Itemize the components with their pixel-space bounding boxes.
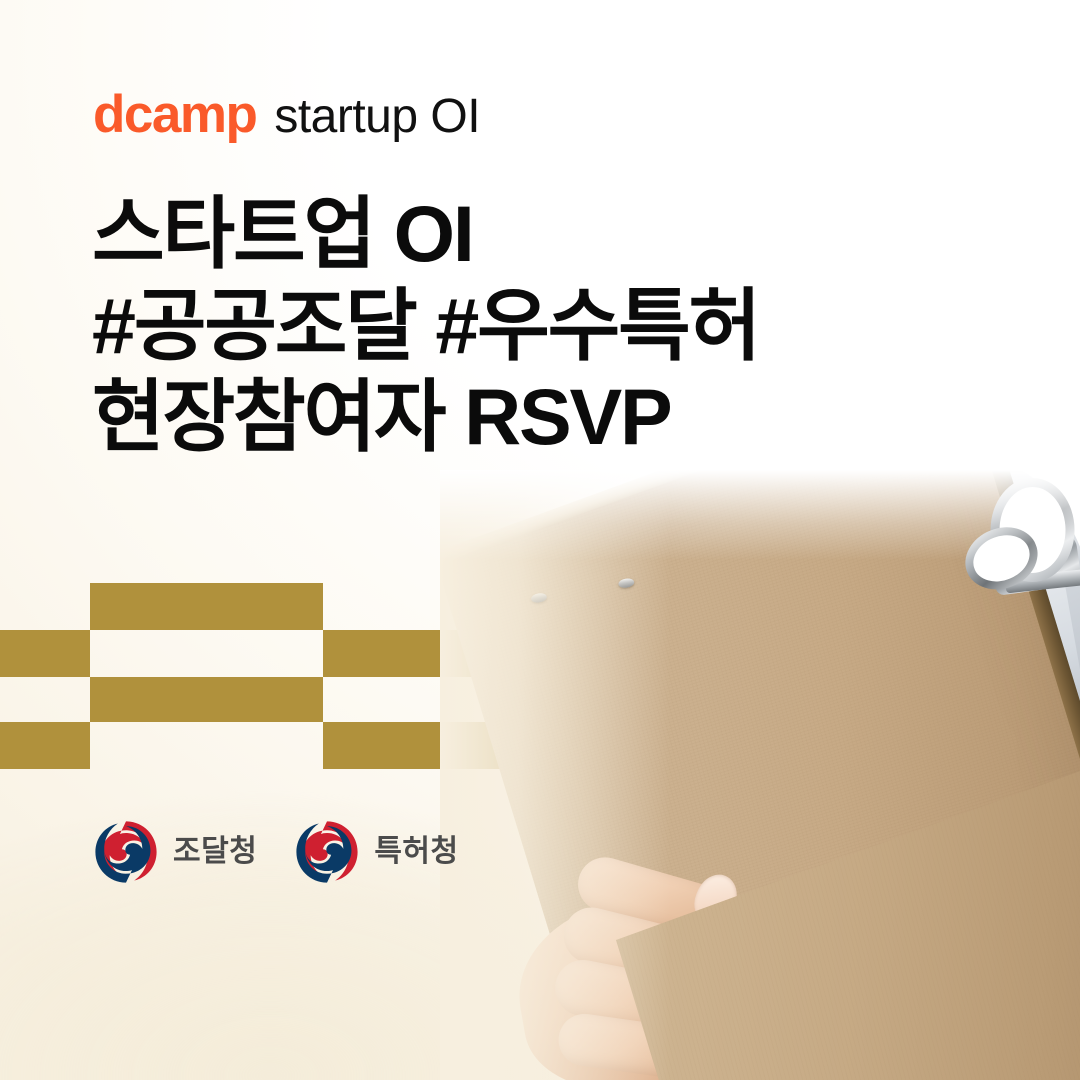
gold-bar — [0, 722, 90, 769]
partner-name-label: 특허청 — [374, 837, 458, 867]
dcamp-wordmark: dcamp — [93, 88, 256, 141]
gold-bar — [90, 677, 323, 722]
partner-teukheocheong: 특허청 — [293, 818, 458, 886]
partner-name-label: 조달청 — [173, 837, 257, 867]
clipboard-photo — [440, 470, 1080, 1080]
headline-line-1: 스타트업 OI — [92, 188, 992, 280]
partner-jodalcheong: 조달청 — [92, 818, 257, 886]
headline-block: 스타트업 OI #공공조달 #우수특허 현장참여자 RSVP — [92, 188, 992, 463]
poster-canvas: dcamp startup OI 스타트업 OI #공공조달 #우수특허 현장참… — [0, 0, 1080, 1080]
partner-logos: 조달청 특허청 — [92, 818, 459, 886]
headline-line-3: 현장참여자 RSVP — [92, 371, 992, 463]
brand-logo-lockup: dcamp startup OI — [93, 88, 480, 141]
gold-bar — [90, 583, 323, 630]
taegeuk-emblem-icon — [293, 818, 361, 886]
taegeuk-emblem-icon — [92, 818, 160, 886]
headline-line-2: #공공조달 #우수특허 — [92, 280, 992, 372]
startup-oi-wordmark: startup OI — [274, 93, 480, 141]
gold-bar — [0, 630, 90, 677]
